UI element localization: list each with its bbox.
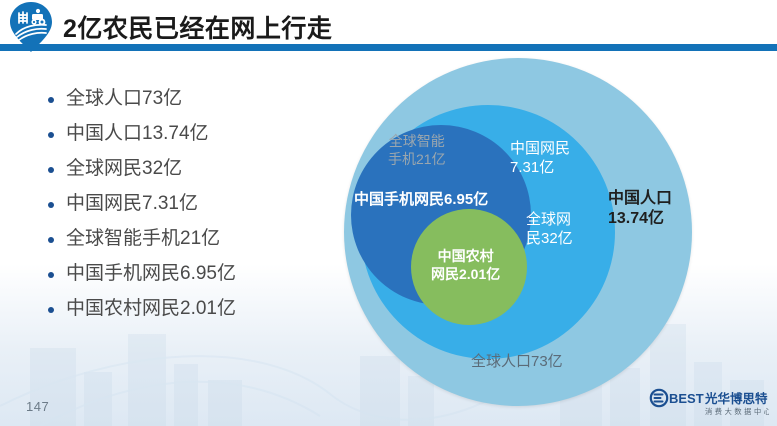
bullet-label: 中国手机网民6.95亿 [66,263,236,284]
nested-venn-diagram: 全球智能 手机21亿 中国手机网民6.95亿 中国网民 7.31亿 全球网 民3… [318,52,718,402]
page-title: 2亿农民已经在网上行走 [63,9,332,45]
brand-sub-text: 消费大数据中心 [705,407,769,416]
label-world-population: 全球人口73亿 [471,352,563,371]
list-item: 全球网民32亿 [46,158,306,180]
label-china-rural-netizens-line2: 网民2.01亿 [431,266,500,284]
label-world-smartphone-line1: 全球智能 [388,133,446,151]
bullet-label: 中国网民7.31亿 [66,193,198,214]
brand-logo: BEST 光华博思特 消费大数据中心 [647,387,769,419]
brand-mark-text: BEST [669,391,704,406]
list-item: 中国农村网民2.01亿 [46,298,306,320]
list-item: 中国网民7.31亿 [46,193,306,215]
bullet-label: 全球智能手机21亿 [66,228,220,249]
header-divider [0,44,777,51]
bullet-label: 中国人口13.74亿 [66,123,209,144]
label-world-smartphone-line2: 手机21亿 [388,151,446,169]
label-world-netizens: 全球网 民32亿 [526,210,573,248]
label-china-netizens-line1: 中国网民 [510,139,570,158]
slide: 2亿农民已经在网上行走 全球人口73亿 中国人口13.74亿 全球网民32亿 中… [0,0,777,426]
label-china-population-line2: 13.74亿 [608,209,672,229]
bullet-label: 全球人口73亿 [66,88,182,109]
page-number: 147 [26,399,49,414]
label-china-mobile-netizens: 中国手机网民6.95亿 [354,190,488,209]
brand-name-text: 光华博思特 [704,391,768,406]
label-china-population-line1: 中国人口 [608,189,672,209]
label-world-netizens-line1: 全球网 [526,210,573,229]
label-world-netizens-line2: 民32亿 [526,229,573,248]
list-item: 全球人口73亿 [46,88,306,110]
label-china-netizens-line2: 7.31亿 [510,158,570,177]
label-china-population: 中国人口 13.74亿 [608,189,672,230]
statistics-bullet-list: 全球人口73亿 中国人口13.74亿 全球网民32亿 中国网民7.31亿 全球智… [46,88,306,333]
slide-header: 2亿农民已经在网上行走 [0,0,777,52]
bullet-label: 全球网民32亿 [66,158,182,179]
bullet-label: 中国农村网民2.01亿 [66,298,236,319]
label-china-rural-netizens-line1: 中国农村 [431,248,500,266]
list-item: 全球智能手机21亿 [46,228,306,250]
list-item: 中国手机网民6.95亿 [46,263,306,285]
label-china-rural-netizens: 中国农村 网民2.01亿 [431,248,500,284]
label-china-netizens: 中国网民 7.31亿 [510,139,570,177]
label-world-smartphone: 全球智能 手机21亿 [388,133,446,169]
list-item: 中国人口13.74亿 [46,123,306,145]
